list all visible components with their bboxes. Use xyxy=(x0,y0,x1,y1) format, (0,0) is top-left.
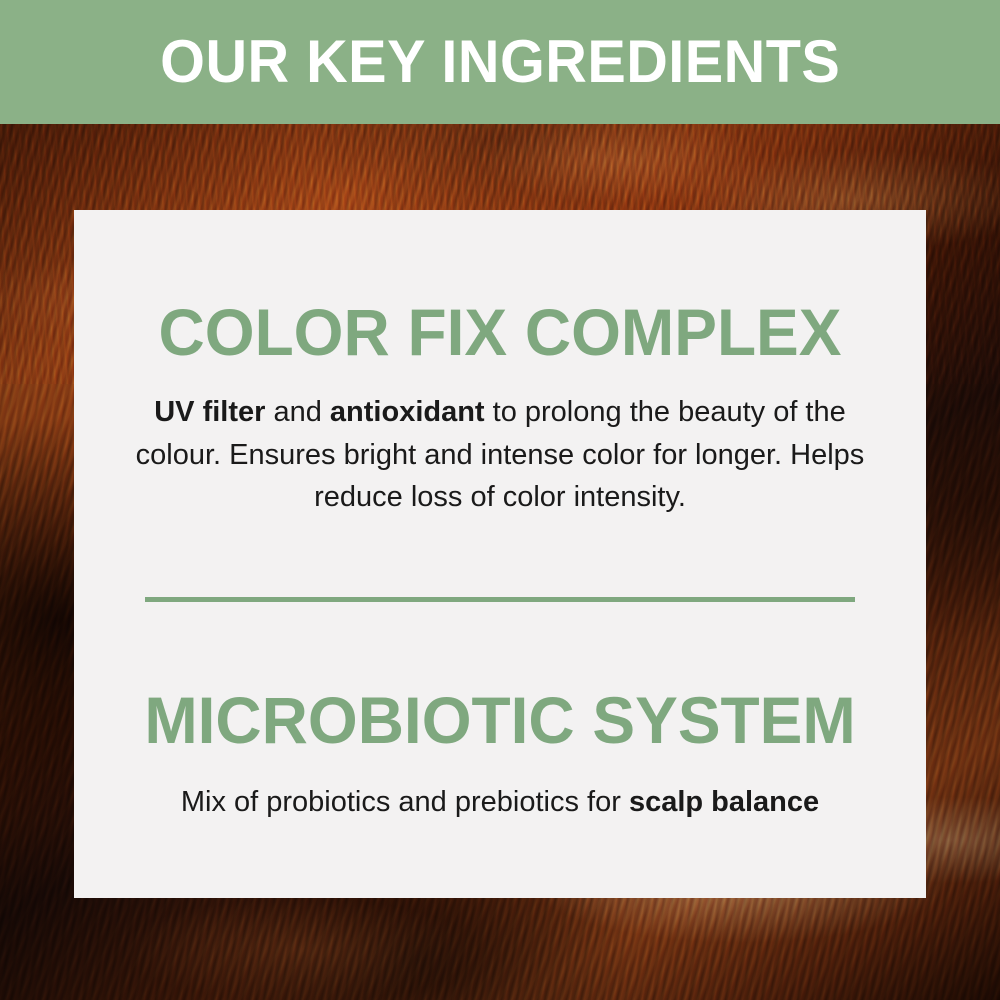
header-band: OUR KEY INGREDIENTS xyxy=(0,0,1000,124)
section-heading-color-fix-complex: COLOR FIX COMPLEX xyxy=(122,298,879,367)
section-microbiotic-system: MICROBIOTIC SYSTEM Mix of probiotics and… xyxy=(110,686,890,824)
section-body-microbiotic-system: Mix of probiotics and prebiotics for sca… xyxy=(110,781,890,824)
ingredients-poster: OUR KEY INGREDIENTS COLOR FIX COMPLEX UV… xyxy=(0,0,1000,1000)
section-color-fix-complex: COLOR FIX COMPLEX UV filter and antioxid… xyxy=(110,298,890,519)
page-title: OUR KEY INGREDIENTS xyxy=(160,32,840,92)
section-body-color-fix-complex: UV filter and antioxidant to prolong the… xyxy=(110,391,890,520)
section-divider xyxy=(145,597,855,602)
section-heading-microbiotic-system: MICROBIOTIC SYSTEM xyxy=(122,686,879,755)
ingredients-card: COLOR FIX COMPLEX UV filter and antioxid… xyxy=(74,210,926,898)
